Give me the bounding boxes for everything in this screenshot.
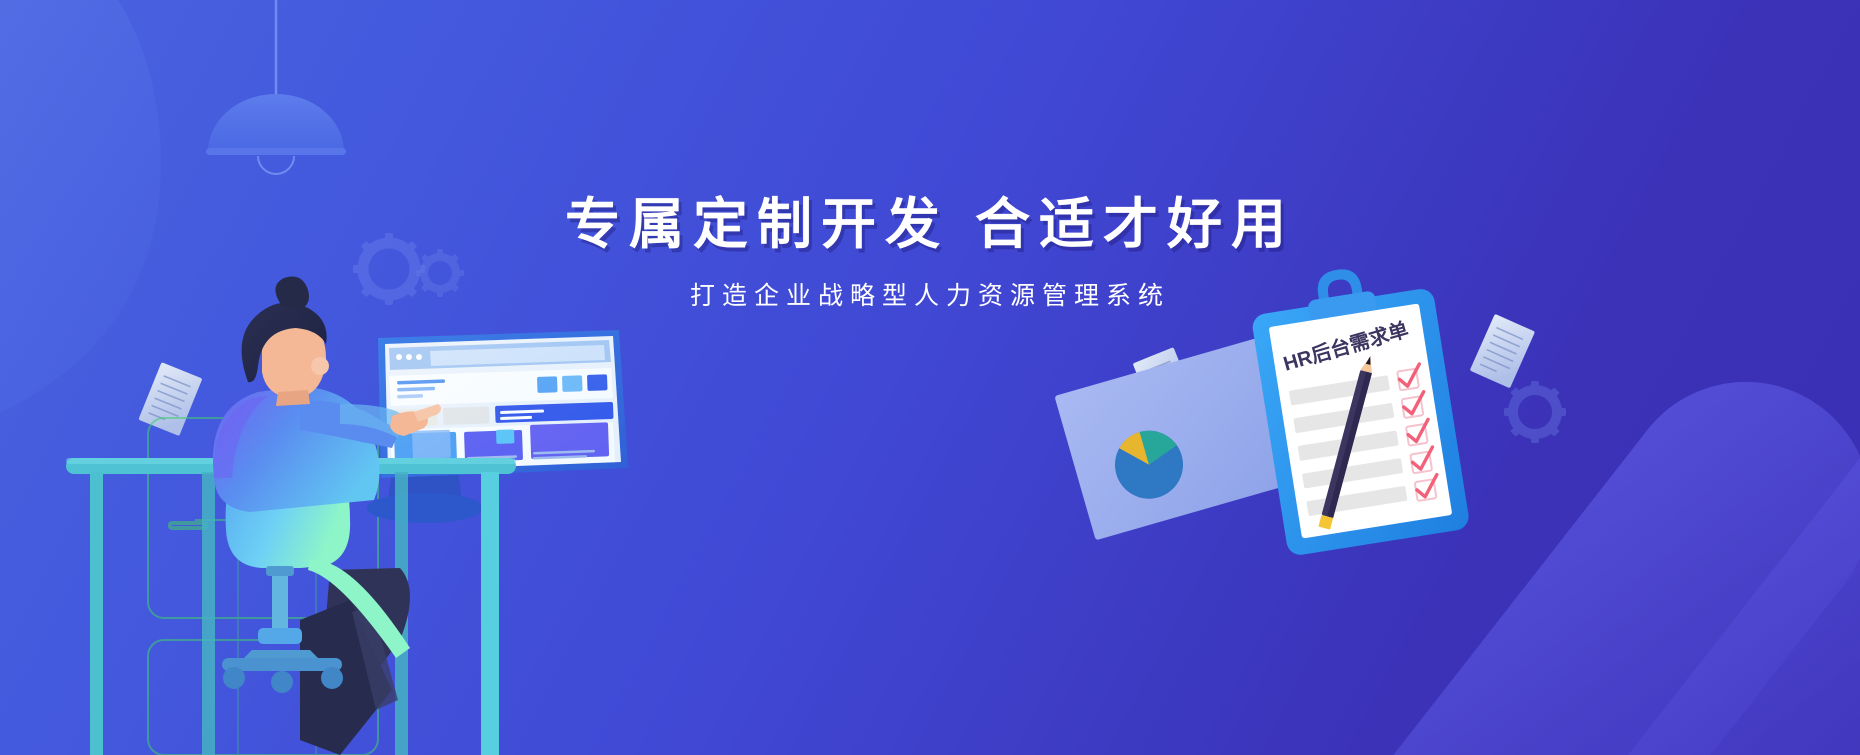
clipboard-group: HR后台需求单	[0, 0, 1860, 755]
hero-banner: HR后台需求单	[0, 0, 1860, 755]
hr-requirement-clipboard[interactable]: HR后台需求单	[1246, 255, 1471, 556]
